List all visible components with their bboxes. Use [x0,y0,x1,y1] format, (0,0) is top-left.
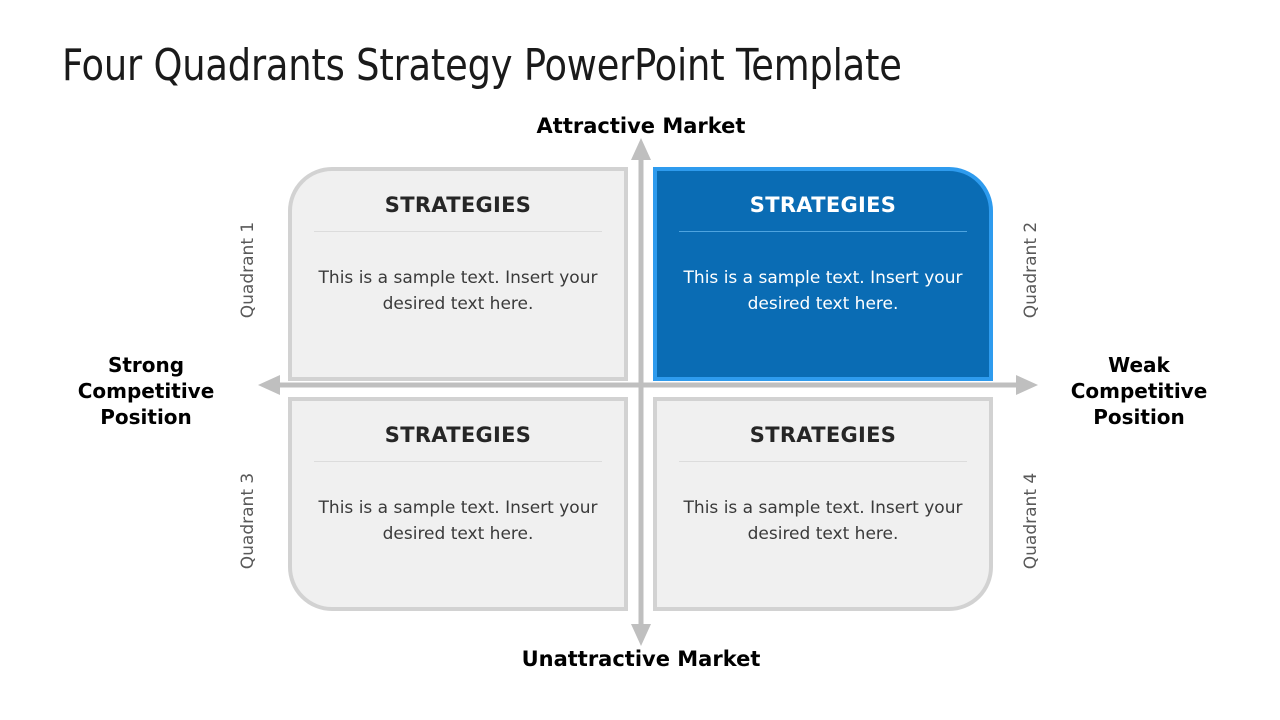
quadrant-label-4: Quadrant 4 [1021,466,1041,576]
quadrant-card-4[interactable]: STRATEGIES This is a sample text. Insert… [653,397,993,611]
quadrant-card-4-divider [679,461,967,462]
axis-label-right-line-2: Competitive [1039,378,1239,404]
axis-label-left-line-1: Strong [46,352,246,378]
quadrant-card-1[interactable]: STRATEGIES This is a sample text. Insert… [288,167,628,381]
axis-label-left: Strong Competitive Position [46,352,246,430]
quadrant-card-3-title: STRATEGIES [385,423,531,447]
axis-label-bottom: Unattractive Market [441,646,841,673]
four-quadrant-matrix: Attractive Market Unattractive Market St… [0,0,1280,720]
quadrant-card-2-body: This is a sample text. Insert your desir… [683,266,963,317]
quadrant-card-1-body: This is a sample text. Insert your desir… [318,266,598,317]
quadrant-card-3-body: This is a sample text. Insert your desir… [318,496,598,547]
quadrant-card-2-title: STRATEGIES [750,193,896,217]
quadrant-card-1-divider [314,231,602,232]
quadrant-label-3: Quadrant 3 [238,466,258,576]
quadrant-card-1-title: STRATEGIES [385,193,531,217]
axis-label-right-line-1: Weak [1039,352,1239,378]
axis-label-left-line-3: Position [46,404,246,430]
quadrant-card-4-title: STRATEGIES [750,423,896,447]
quadrant-card-2-divider [679,231,967,232]
axis-label-right: Weak Competitive Position [1039,352,1239,430]
quadrant-label-1: Quadrant 1 [238,215,258,325]
quadrant-card-3[interactable]: STRATEGIES This is a sample text. Insert… [288,397,628,611]
axis-label-left-line-2: Competitive [46,378,246,404]
axis-label-top: Attractive Market [441,113,841,140]
quadrant-label-2: Quadrant 2 [1021,215,1041,325]
axis-label-right-line-3: Position [1039,404,1239,430]
quadrant-card-4-body: This is a sample text. Insert your desir… [683,496,963,547]
quadrant-card-2[interactable]: STRATEGIES This is a sample text. Insert… [653,167,993,381]
quadrant-card-3-divider [314,461,602,462]
